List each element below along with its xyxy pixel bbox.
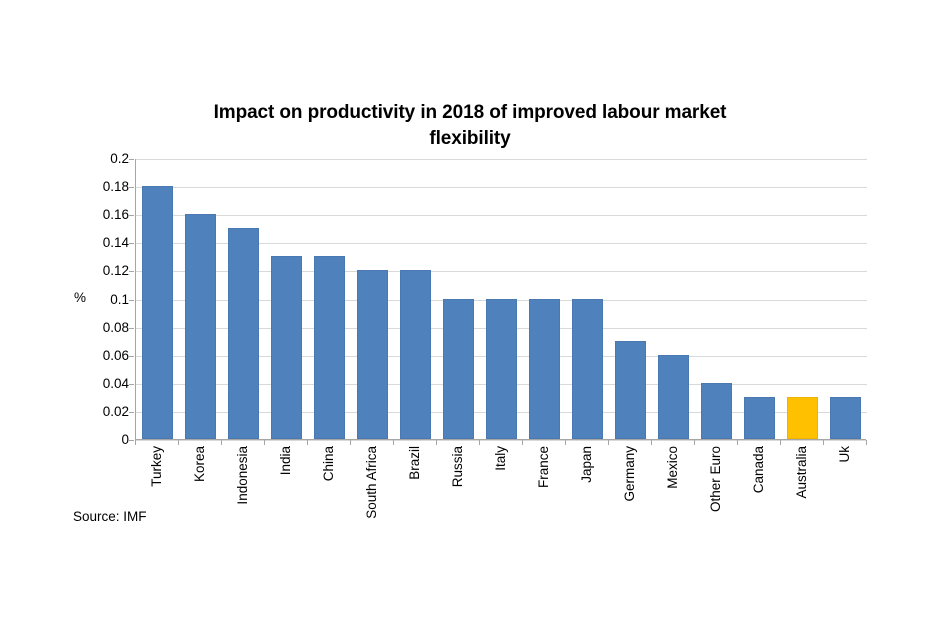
y-axis-tick-label: 0.04 [87,377,129,391]
x-axis-tick-mark [307,440,308,445]
x-axis-tick-mark [737,440,738,445]
bar[interactable] [787,397,818,439]
x-axis-tick-mark [522,440,523,445]
x-axis-label-slot: Germany [608,446,651,556]
x-axis-label-slot: Korea [178,446,221,556]
bar[interactable] [271,256,302,439]
x-axis-label-slot: Russia [436,446,479,556]
bar[interactable] [185,214,216,439]
plot-area [135,159,866,440]
bar[interactable] [142,186,173,439]
x-axis-tick-label: Japan [580,446,594,483]
x-axis-label-slot: Brazil [393,446,436,556]
x-axis-tick-label: Australia [795,446,809,499]
x-axis-label-slot: Uk [823,446,866,556]
bar[interactable] [228,228,259,439]
y-axis-tick-label: 0.06 [87,349,129,363]
x-axis-label-slot: South Africa [350,446,393,556]
x-axis-label-slot: Mexico [651,446,694,556]
bar[interactable] [830,397,861,439]
y-axis-tick-label: 0.2 [87,152,129,166]
gridline [136,215,867,216]
x-axis-label-slot: Italy [479,446,522,556]
bar[interactable] [615,341,646,439]
x-axis-label-slot: Australia [780,446,823,556]
x-axis-tick-label: Russia [451,446,465,487]
x-axis-tick-label: Germany [623,446,637,502]
x-axis-tick-label: Mexico [666,446,680,489]
chart-figure: Impact on productivity in 2018 of improv… [0,0,940,627]
y-axis-tick-labels: 0.20.180.160.140.120.10.080.060.040.020 [85,159,129,440]
x-axis-label-slot: Other Euro [694,446,737,556]
y-axis-tick-mark [129,356,134,357]
gridline [136,159,867,160]
x-axis-tick-mark [264,440,265,445]
x-axis-tick-mark [135,440,136,445]
y-axis-tick-mark [129,271,134,272]
y-axis-tick-mark [129,159,134,160]
x-axis-tick-mark [178,440,179,445]
x-axis-tick-label: China [322,446,336,481]
x-axis-tick-label: India [279,446,293,475]
x-axis-label-slot: Indonesia [221,446,264,556]
y-axis-tick-label: 0.18 [87,180,129,194]
source-note: Source: IMF [73,509,147,525]
x-axis-label-slot: Japan [565,446,608,556]
x-axis-tick-mark [651,440,652,445]
y-axis-tick-label: 0 [87,433,129,447]
x-axis-label-slot: Canada [737,446,780,556]
y-axis-tick-mark [129,215,134,216]
bar[interactable] [486,299,517,440]
x-axis-tick-mark [436,440,437,445]
x-axis-tick-mark [608,440,609,445]
y-axis-tick-label: 0.14 [87,236,129,250]
bar[interactable] [658,355,689,439]
x-axis-label-slot: China [307,446,350,556]
x-axis-tick-label: Other Euro [709,446,723,512]
x-axis-tick-label: Uk [838,446,852,463]
x-axis-tick-mark [823,440,824,445]
bar[interactable] [357,270,388,439]
x-axis-tick-label: France [537,446,551,488]
chart-title: Impact on productivity in 2018 of improv… [180,100,760,152]
x-axis-label-slot: France [522,446,565,556]
bar[interactable] [400,270,431,439]
x-axis-tick-label: Indonesia [236,446,250,505]
bar[interactable] [572,299,603,440]
bar[interactable] [701,383,732,439]
bar[interactable] [443,299,474,440]
x-axis-tick-label: South Africa [365,446,379,519]
bar[interactable] [529,299,560,440]
y-axis-tick-mark [129,243,134,244]
y-axis-tick-mark [129,187,134,188]
x-axis-tick-label: Turkey [150,446,164,487]
y-axis-tick-mark [129,300,134,301]
x-axis-tick-mark [350,440,351,445]
y-axis-tick-mark [129,328,134,329]
bar[interactable] [314,256,345,439]
y-axis-tick-label: 0.12 [87,264,129,278]
x-axis-tick-label: Canada [752,446,766,493]
x-axis-tick-mark [694,440,695,445]
x-axis-tick-label: Korea [193,446,207,482]
x-axis-tick-mark [780,440,781,445]
y-axis-tick-mark [129,412,134,413]
x-axis-label-slot: India [264,446,307,556]
y-axis-tick-mark [129,384,134,385]
x-axis-tick-mark [393,440,394,445]
x-axis-tick-label: Italy [494,446,508,471]
x-axis-tick-mark [479,440,480,445]
x-axis-tick-mark [565,440,566,445]
gridline [136,187,867,188]
y-axis-tick-label: 0.1 [87,293,129,307]
x-axis-tick-mark [221,440,222,445]
x-axis-tick-mark [866,440,867,445]
x-axis-label-slot: Turkey [135,446,178,556]
x-axis-tick-labels: TurkeyKoreaIndonesiaIndiaChinaSouth Afri… [135,446,867,556]
x-axis-tick-label: Brazil [408,446,422,480]
y-axis-tick-label: 0.16 [87,208,129,222]
y-axis-tick-label: 0.08 [87,321,129,335]
y-axis-tick-label: 0.02 [87,405,129,419]
y-axis-tick-mark [129,440,134,441]
bar[interactable] [744,397,775,439]
